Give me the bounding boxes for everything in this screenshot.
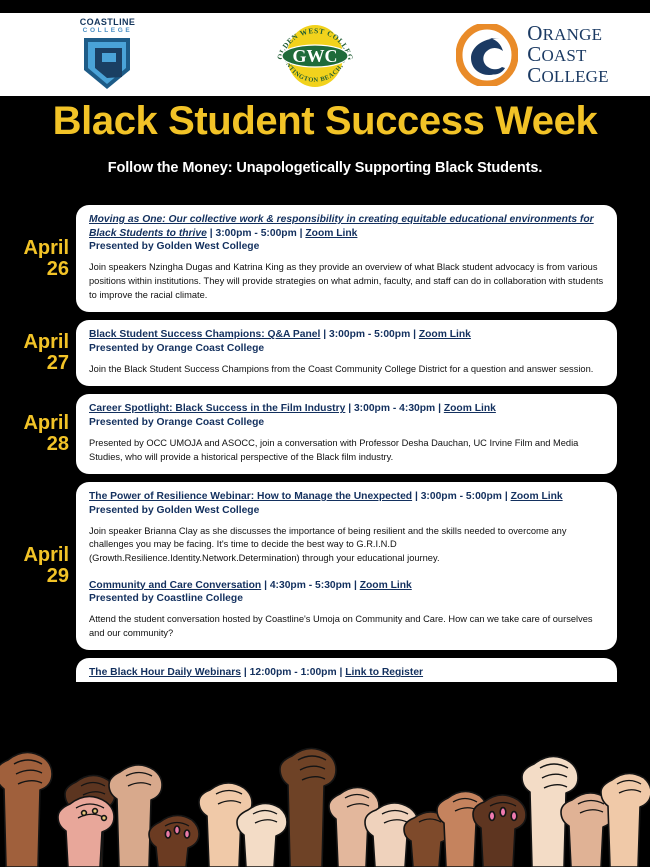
coastline-wordmark-line1: COASTLINE bbox=[80, 18, 136, 27]
event-title-link[interactable]: The Power of Resilience Webinar: How to … bbox=[89, 491, 412, 502]
day-number: 29 bbox=[0, 566, 69, 587]
event-card: Black Student Success Champions: Q&A Pan… bbox=[76, 320, 617, 386]
event-title-line: Moving as One: Our collective work & res… bbox=[89, 213, 604, 240]
day-month: April bbox=[0, 413, 69, 434]
event-title-link[interactable]: The Black Hour Daily Webinars bbox=[89, 667, 241, 678]
day-number: 26 bbox=[0, 259, 69, 280]
event-description: Presented by OCC UMOJA and ASOCC, join a… bbox=[89, 437, 604, 464]
event-presenter: Presented by Orange Coast College bbox=[89, 342, 604, 356]
event-zoom-link[interactable]: Zoom Link bbox=[511, 491, 563, 502]
event-title-line: The Black Hour Daily Webinars | 12:00pm … bbox=[89, 666, 604, 680]
event: Career Spotlight: Black Success in the F… bbox=[89, 402, 604, 464]
event-description: Join speaker Brianna Clay as she discuss… bbox=[89, 525, 604, 566]
event-time: 3:00pm - 4:30pm bbox=[354, 403, 435, 414]
event: Community and Care Conversation | 4:30pm… bbox=[89, 579, 604, 641]
orange-coast-college-logo: ORANGE COAST COLLEGE bbox=[415, 23, 650, 86]
golden-west-college-logo: GOLDEN WEST COLLEGE HUNTINGTON BEACH, CA… bbox=[215, 17, 415, 93]
event-title-link[interactable]: Career Spotlight: Black Success in the F… bbox=[89, 403, 345, 414]
event-schedule: April26Moving as One: Our collective wor… bbox=[0, 205, 650, 746]
coastline-shield-icon bbox=[82, 36, 132, 91]
occ-wordmark-line1: ORANGE bbox=[527, 23, 609, 44]
event-card: Moving as One: Our collective work & res… bbox=[76, 205, 617, 312]
event: The Power of Resilience Webinar: How to … bbox=[89, 490, 604, 565]
event-title-link[interactable]: Black Student Success Champions: Q&A Pan… bbox=[89, 329, 320, 340]
day-month: April bbox=[0, 545, 69, 566]
day-month: April bbox=[0, 332, 69, 353]
page-title: Black Student Success Week bbox=[0, 101, 650, 141]
day-row: April26Moving as One: Our collective wor… bbox=[0, 205, 650, 312]
coastline-college-logo: COASTLINE COLLEGE bbox=[0, 18, 215, 92]
title-separator: | bbox=[412, 491, 421, 502]
day-row: April27Black Student Success Champions: … bbox=[0, 320, 650, 386]
event-time: 3:00pm - 5:00pm bbox=[215, 228, 296, 239]
day-row: April29The Power of Resilience Webinar: … bbox=[0, 482, 650, 650]
event-time: 12:00pm - 1:00pm bbox=[250, 667, 337, 678]
event-card: The Power of Resilience Webinar: How to … bbox=[76, 482, 617, 650]
coastline-wordmark-line2: COLLEGE bbox=[83, 28, 133, 35]
day-date-label: April26 bbox=[0, 238, 76, 280]
title-separator: | bbox=[410, 329, 419, 340]
day-date-label: April28 bbox=[0, 413, 76, 455]
raised-fists-illustration bbox=[0, 682, 650, 867]
event-presenter: Presented by Orange Coast College bbox=[89, 416, 604, 430]
event-time: 3:00pm - 5:00pm bbox=[329, 329, 410, 340]
title-separator: | bbox=[337, 667, 346, 678]
event-title-line: The Power of Resilience Webinar: How to … bbox=[89, 490, 604, 504]
title-separator: | bbox=[320, 329, 329, 340]
title-separator: | bbox=[261, 580, 270, 591]
event-presenter: Presented by Coastline College bbox=[89, 592, 604, 606]
event-zoom-link[interactable]: Zoom Link bbox=[419, 329, 471, 340]
occ-wordmark-line3: COLLEGE bbox=[527, 65, 609, 86]
event-zoom-link[interactable]: Zoom Link bbox=[360, 580, 412, 591]
event-zoom-link[interactable]: Zoom Link bbox=[444, 403, 496, 414]
title-separator: | bbox=[351, 580, 360, 591]
event-title-link[interactable]: Community and Care Conversation bbox=[89, 580, 261, 591]
event-description: Join the Black Student Success Champions… bbox=[89, 363, 604, 377]
event: Black Student Success Champions: Q&A Pan… bbox=[89, 328, 604, 376]
event-time: 3:00pm - 5:00pm bbox=[421, 491, 502, 502]
day-month: April bbox=[0, 238, 69, 259]
title-separator: | bbox=[345, 403, 354, 414]
event-description: Attend the student conversation hosted b… bbox=[89, 613, 604, 640]
day-date-label: April27 bbox=[0, 332, 76, 374]
occ-wave-mark-icon bbox=[456, 24, 518, 86]
title-separator: | bbox=[241, 667, 250, 678]
event-time: 4:30pm - 5:30pm bbox=[270, 580, 351, 591]
event-presenter: Presented by Golden West College bbox=[89, 240, 604, 254]
day-number: 28 bbox=[0, 434, 69, 455]
day-number: 27 bbox=[0, 353, 69, 374]
event: Moving as One: Our collective work & res… bbox=[89, 213, 604, 302]
event-title-line: Community and Care Conversation | 4:30pm… bbox=[89, 579, 604, 593]
event-zoom-link[interactable]: Link to Register bbox=[345, 667, 423, 678]
title-separator: | bbox=[435, 403, 444, 414]
occ-wordmark-line2: COAST bbox=[527, 44, 609, 65]
event-card: Career Spotlight: Black Success in the F… bbox=[76, 394, 617, 474]
day-row: April28Career Spotlight: Black Success i… bbox=[0, 394, 650, 474]
event-zoom-link[interactable]: Zoom Link bbox=[305, 228, 357, 239]
logo-header-band: COASTLINE COLLEGE GOLDEN bbox=[0, 13, 650, 96]
gwc-emblem-icon: GOLDEN WEST COLLEGE HUNTINGTON BEACH, CA… bbox=[274, 17, 356, 93]
day-date-label: April29 bbox=[0, 545, 76, 587]
svg-text:GWC: GWC bbox=[293, 46, 338, 66]
title-separator: | bbox=[502, 491, 511, 502]
event-title-line: Career Spotlight: Black Success in the F… bbox=[89, 402, 604, 416]
poster: COASTLINE COLLEGE GOLDEN bbox=[0, 0, 650, 867]
event-title-line: Black Student Success Champions: Q&A Pan… bbox=[89, 328, 604, 342]
event-description: Join speakers Nzingha Dugas and Katrina … bbox=[89, 261, 604, 302]
page-subtitle: Follow the Money: Unapologetically Suppo… bbox=[0, 160, 650, 176]
event-presenter: Presented by Golden West College bbox=[89, 504, 604, 518]
